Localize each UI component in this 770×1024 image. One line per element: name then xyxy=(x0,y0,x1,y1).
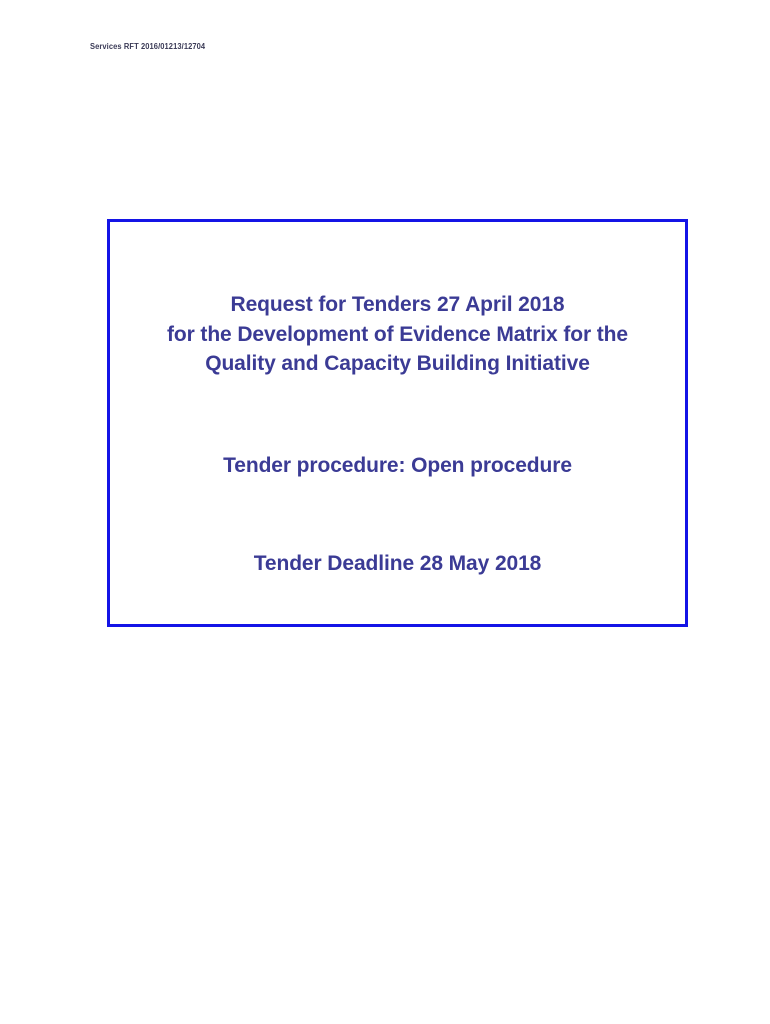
title-line-1: Request for Tenders 27 April 2018 xyxy=(110,290,685,320)
title-frame-inner: Request for Tenders 27 April 2018 for th… xyxy=(110,222,685,624)
document-header: Services RFT 2016/01213/12704 xyxy=(90,38,650,52)
tender-procedure-block: Tender procedure: Open procedure xyxy=(110,451,685,481)
header-reference-number: Services RFT 2016/01213/12704 xyxy=(90,40,205,54)
tender-deadline-text: Tender Deadline 28 May 2018 xyxy=(110,549,685,579)
title-line-2: for the Development of Evidence Matrix f… xyxy=(110,320,685,350)
title-line-3: Quality and Capacity Building Initiative xyxy=(110,349,685,379)
main-title-block: Request for Tenders 27 April 2018 for th… xyxy=(110,290,685,379)
document-page: Services RFT 2016/01213/12704 Request fo… xyxy=(0,0,770,1024)
tender-deadline-block: Tender Deadline 28 May 2018 xyxy=(110,549,685,579)
title-frame-box: Request for Tenders 27 April 2018 for th… xyxy=(107,219,688,627)
tender-procedure-text: Tender procedure: Open procedure xyxy=(110,451,685,481)
